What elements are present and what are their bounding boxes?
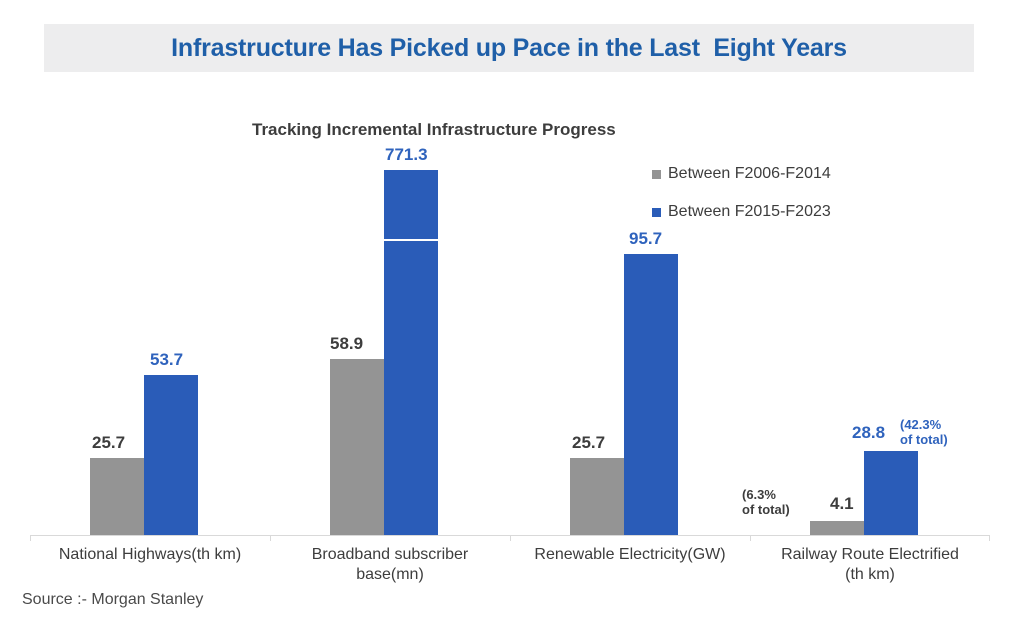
x-axis-tick xyxy=(989,536,990,541)
source-note: Source :- Morgan Stanley xyxy=(22,591,203,609)
bar-annotation-blue-3: (42.3% of total) xyxy=(900,418,948,447)
x-axis-category-label-broadband: Broadband subscriber base(mn) xyxy=(270,545,510,585)
chart-plot-area: 25.7 53.7 58.9 771.3 25.7 95.7 4.1 (6.3%… xyxy=(30,110,990,536)
x-axis-category-label-national-highways: National Highways(th km) xyxy=(30,545,270,565)
bar-f2015-f2023-broadband[interactable] xyxy=(384,241,438,535)
x-axis-category-label-railway: Railway Route Electrified (th km) xyxy=(750,545,990,585)
bar-f2006-f2014-national-highways[interactable] xyxy=(90,458,144,535)
bar-f2015-f2023-broadband-cap[interactable] xyxy=(384,170,438,239)
bar-value-label-gray-0: 25.7 xyxy=(92,433,125,453)
bar-value-label-blue-3: 28.8 xyxy=(852,423,885,443)
x-axis-category-label-renewable: Renewable Electricity(GW) xyxy=(510,545,750,565)
bar-value-label-gray-2: 25.7 xyxy=(572,433,605,453)
bar-f2006-f2014-renewable[interactable] xyxy=(570,458,624,535)
bar-value-label-blue-0: 53.7 xyxy=(150,350,183,370)
bar-value-label-gray-3: 4.1 xyxy=(830,494,854,514)
bar-f2006-f2014-railway[interactable] xyxy=(810,521,864,535)
bar-f2015-f2023-railway[interactable] xyxy=(864,451,918,535)
bar-f2015-f2023-national-highways[interactable] xyxy=(144,375,198,535)
title-banner: Infrastructure Has Picked up Pace in the… xyxy=(44,24,974,72)
bar-value-label-blue-1: 771.3 xyxy=(385,145,428,165)
bar-value-label-gray-1: 58.9 xyxy=(330,334,363,354)
bar-value-label-blue-2: 95.7 xyxy=(629,229,662,249)
x-axis-tick xyxy=(30,536,31,541)
page-title: Infrastructure Has Picked up Pace in the… xyxy=(171,34,847,63)
x-axis-tick xyxy=(750,536,751,541)
x-axis-tick xyxy=(270,536,271,541)
bar-f2006-f2014-broadband[interactable] xyxy=(330,359,384,535)
bar-f2015-f2023-renewable[interactable] xyxy=(624,254,678,535)
bar-annotation-gray-3: (6.3% of total) xyxy=(742,488,790,517)
x-axis-tick xyxy=(510,536,511,541)
